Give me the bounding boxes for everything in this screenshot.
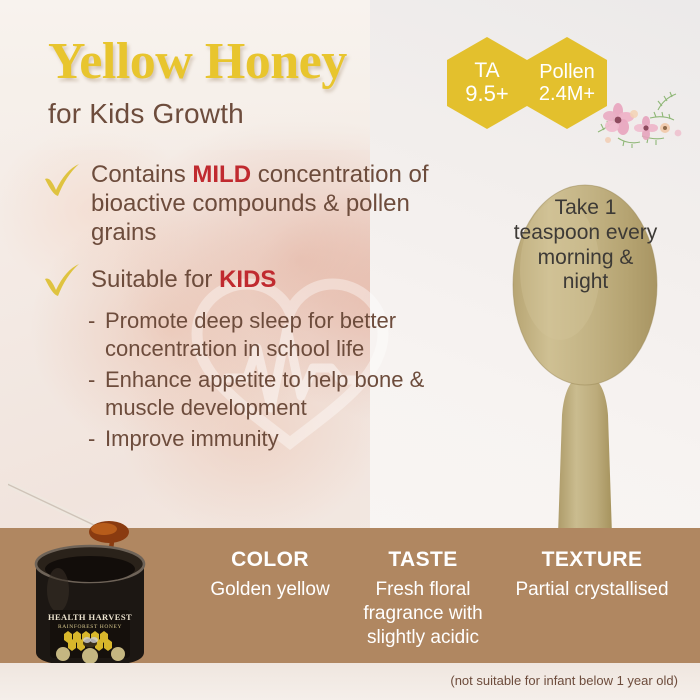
page-title: Yellow Honey <box>48 36 347 88</box>
check-icon <box>42 263 82 297</box>
benefit-item-1: Contains MILD concentration of bioactive… <box>91 161 471 247</box>
attribute-texture-header: TEXTURE <box>512 548 672 572</box>
attribute-taste-value: Fresh floral fragrance with slightly aci… <box>343 578 503 649</box>
benefit-1-highlight: MILD <box>192 161 251 188</box>
jar-brand-subtext: RAINFOREST HONEY <box>58 624 122 630</box>
attribute-color-header: COLOR <box>205 548 335 572</box>
benefit-1-prefix: Contains <box>91 161 192 188</box>
benefit-item-2: Suitable for KIDS <box>91 266 471 295</box>
poster-canvas: Yellow Honey for Kids Growth TA 9.5+ Pol… <box>0 0 700 700</box>
benefit-2-highlight: KIDS <box>219 266 276 293</box>
badge-ta-value: 9.5+ <box>465 82 508 107</box>
floral-decoration-icon <box>588 88 693 156</box>
badge-ta-label: TA <box>474 59 499 83</box>
sub-bullet-2-dash: - <box>88 366 105 421</box>
sub-bullet-3: - Improve immunity <box>88 425 488 453</box>
benefit-2-prefix: Suitable for <box>91 266 219 293</box>
check-icon <box>42 163 82 197</box>
sub-bullet-1-text: Promote deep sleep for better concentrat… <box>105 307 488 362</box>
sub-bullet-1-dash: - <box>88 307 105 362</box>
sub-bullet-1: - Promote deep sleep for better concentr… <box>88 307 488 362</box>
attribute-texture: TEXTURE Partial crystallised <box>512 548 672 602</box>
honey-jar-icon: HEALTH HARVEST RAINFOREST HONEY <box>8 470 203 670</box>
attribute-color-value: Golden yellow <box>205 578 335 602</box>
sub-bullet-2-text: Enhance appetite to help bone & muscle d… <box>105 366 498 421</box>
attribute-texture-value: Partial crystallised <box>512 578 672 602</box>
attribute-color: COLOR Golden yellow <box>205 548 335 602</box>
jar-brand-text: HEALTH HARVEST <box>48 612 132 622</box>
badge-pollen-value: 2.4M+ <box>539 83 595 105</box>
badge-pollen-label: Pollen <box>539 61 595 83</box>
sub-bullet-3-dash: - <box>88 425 105 453</box>
attribute-taste: TASTE Fresh floral fragrance with slight… <box>343 548 503 649</box>
page-subtitle: for Kids Growth <box>48 98 244 130</box>
footer-disclaimer: (not suitable for infant below 1 year ol… <box>0 673 700 688</box>
attribute-taste-header: TASTE <box>343 548 503 572</box>
dosage-text: Take 1 teaspoon every morning & night <box>513 196 658 295</box>
sub-bullet-3-text: Improve immunity <box>105 425 488 453</box>
sub-bullet-2: - Enhance appetite to help bone & muscle… <box>88 366 498 421</box>
